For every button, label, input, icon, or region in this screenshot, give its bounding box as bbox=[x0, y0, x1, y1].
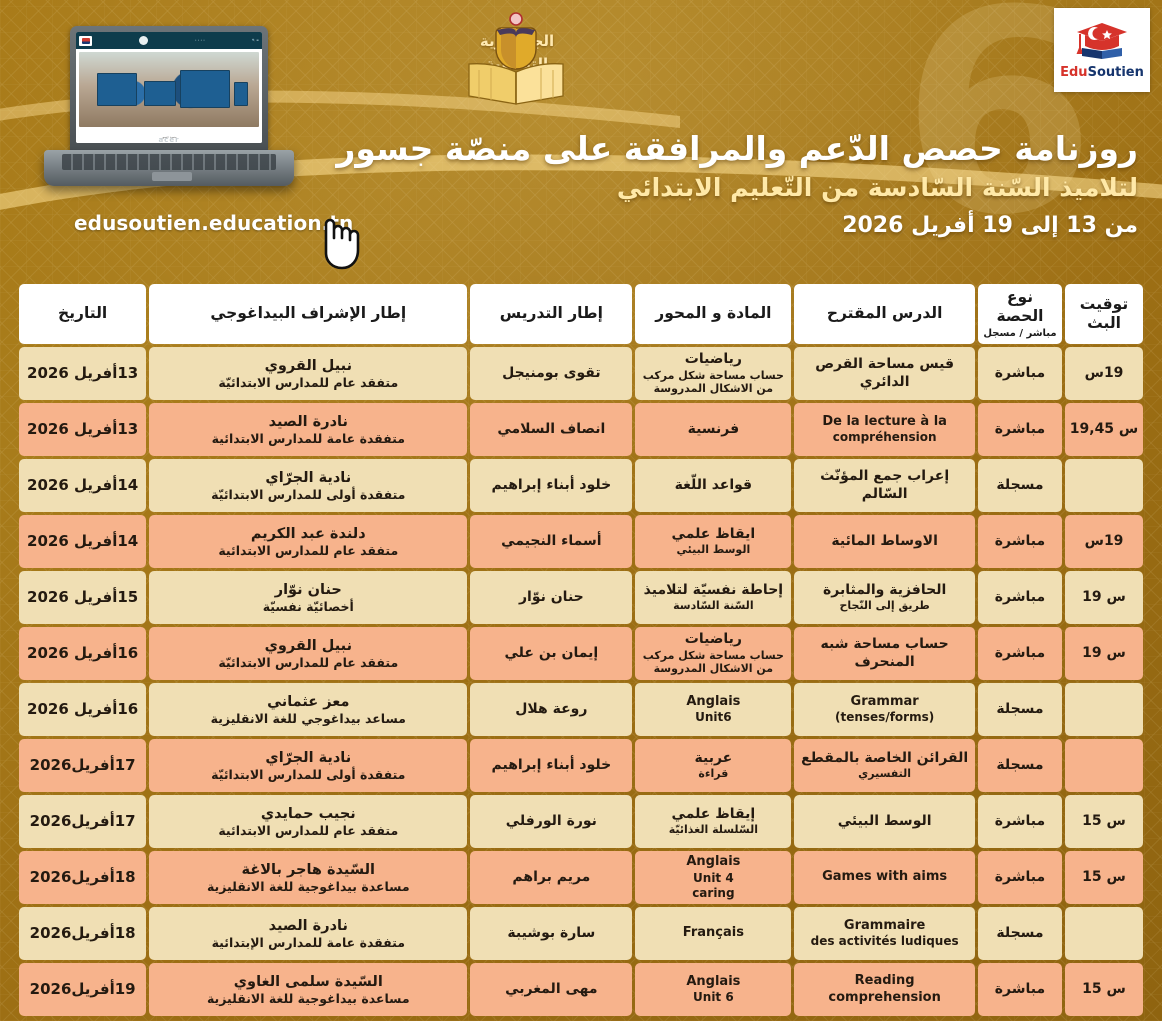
cell-teacher: انصاف السلامي bbox=[470, 403, 632, 456]
cell-teacher: نورة الورفلي bbox=[470, 795, 632, 848]
cell-line-0: Anglais bbox=[639, 854, 787, 870]
cell-line-0: السّيدة هاجر بالاغة bbox=[153, 861, 463, 879]
cell-session-type: مسجلة bbox=[978, 683, 1062, 736]
cell-session-type: مسجلة bbox=[978, 739, 1062, 792]
page-title: روزنامة حصص الدّعم والمرافقة على منصّة ج… bbox=[258, 128, 1138, 169]
table-row: مسجلةGrammairedes activités ludiquesFran… bbox=[19, 907, 1143, 960]
website-user-avatar bbox=[139, 36, 148, 45]
cell-proposed-lesson: الوسط البيئي bbox=[794, 795, 975, 848]
cell-line-0: نجيب حمايدي bbox=[153, 805, 463, 823]
cell-date: 14أفريل 2026 bbox=[19, 515, 146, 568]
cell-proposed-lesson: الحافزية والمثابرةطريق إلى النّجاح bbox=[794, 571, 975, 624]
cell-broadcast-time bbox=[1065, 459, 1143, 512]
cell-session-type: مباشرة bbox=[978, 403, 1062, 456]
cell-proposed-lesson: Grammairedes activités ludiques bbox=[794, 907, 975, 960]
cell-date: 13أفريل 2026 bbox=[19, 347, 146, 400]
cell-line-0: عربية bbox=[639, 750, 787, 768]
cell-line-1: Unit6 bbox=[639, 710, 787, 725]
title-block: روزنامة حصص الدّعم والمرافقة على منصّة ج… bbox=[258, 128, 1138, 244]
cell-teacher: مريم براهم bbox=[470, 851, 632, 904]
website-nav-text: • • • • bbox=[195, 39, 205, 42]
cell-line-1: أخصائيّة نفسيّة bbox=[153, 599, 463, 615]
table-row: مسجلةالقرائن الخاصة بالمقطعالتفسيريعربية… bbox=[19, 739, 1143, 792]
cell-line-1: متفقدة عامة للمدارس الابتدائية bbox=[153, 431, 463, 447]
hero-device-laptop bbox=[180, 70, 230, 108]
cell-session-type: مسجلة bbox=[978, 459, 1062, 512]
schedule-table-container: توقيت البثنوع الحصةمباشر / مسجلالدرس الم… bbox=[16, 281, 1146, 1019]
cell-broadcast-time: 19س bbox=[1065, 515, 1143, 568]
table-header-cell-4: إطار التدريس bbox=[470, 284, 632, 344]
cell-line-1: متفقدة عامة للمدارس الإبتدائية bbox=[153, 935, 463, 951]
cell-teacher: روعة هلال bbox=[470, 683, 632, 736]
cell-pedagogical-supervisor: نادرة الصيدمتفقدة عامة للمدارس الابتدائي… bbox=[149, 403, 467, 456]
cell-session-type: مباشرة bbox=[978, 627, 1062, 680]
website-logo-icon bbox=[79, 36, 92, 46]
table-header-label: توقيت البث bbox=[1080, 295, 1128, 332]
cell-line-0: نادرة الصيد bbox=[153, 413, 463, 431]
edusoutien-edu-text: Edu bbox=[1060, 65, 1087, 80]
table-header-cell-1: نوع الحصةمباشر / مسجل bbox=[978, 284, 1062, 344]
date-range-text: من 13 إلى 19 أفريل 2026 bbox=[258, 207, 1138, 244]
table-header-cell-5: إطار الإشراف البيداغوجي bbox=[149, 284, 467, 344]
cell-pedagogical-supervisor: معز عثمانيمساعد بيداغوجي للغة الانقليزية bbox=[149, 683, 467, 736]
table-row: س 19مباشرةحساب مساحة شبه المنحرفرياضياتح… bbox=[19, 627, 1143, 680]
table-header-label: التاريخ bbox=[58, 304, 107, 322]
cell-line-0: الوسط البيئي bbox=[798, 813, 971, 831]
cell-session-type: مباشرة bbox=[978, 963, 1062, 1016]
cell-date: 14أفريل 2026 bbox=[19, 459, 146, 512]
cell-teacher: مهى المغربي bbox=[470, 963, 632, 1016]
hero-device-phone bbox=[234, 82, 248, 106]
cell-session-type: مباشرة bbox=[978, 571, 1062, 624]
cell-line-0: حنان نوّار bbox=[153, 581, 463, 599]
cell-subject-topic: فرنسية bbox=[635, 403, 791, 456]
cell-session-type: مباشرة bbox=[978, 795, 1062, 848]
hero-device-small bbox=[144, 81, 176, 107]
cell-pedagogical-supervisor: نادية الجرّايمتفقدة أولى للمدارس الابتدا… bbox=[149, 459, 467, 512]
cell-subject-topic: AnglaisUnit6 bbox=[635, 683, 791, 736]
cell-subject-topic: رياضياتحساب مساحة شكل مركبمن الاشكال الم… bbox=[635, 347, 791, 400]
cell-line-0: Games with aims bbox=[798, 869, 971, 885]
laptop-screen-bezel: ☰ 🔍 • • • • منصة جسور bbox=[70, 26, 268, 152]
cell-date: 18أفريل2026 bbox=[19, 907, 146, 960]
cell-subject-topic: عربيةقراءة bbox=[635, 739, 791, 792]
cell-broadcast-time: 19س bbox=[1065, 347, 1143, 400]
cell-line-0: Anglais bbox=[639, 694, 787, 710]
cell-broadcast-time: س 19 bbox=[1065, 627, 1143, 680]
cell-line-0: الاوساط المائية bbox=[798, 533, 971, 551]
table-body: 19سمباشرةقيس مساحة القرص الدائريرياضياتح… bbox=[19, 347, 1143, 1016]
table-row: 19سمباشرةالاوساط المائيةايقاظ علميالوسط … bbox=[19, 515, 1143, 568]
table-header: توقيت البثنوع الحصةمباشر / مسجلالدرس الم… bbox=[19, 284, 1143, 344]
table-header-cell-3: المادة و المحور bbox=[635, 284, 791, 344]
cell-session-type: مباشرة bbox=[978, 347, 1062, 400]
cell-line-0: إيقاظ علمي bbox=[639, 806, 787, 824]
cell-line-1: Unit 6 bbox=[639, 990, 787, 1005]
cell-line-0: حساب مساحة شبه المنحرف bbox=[798, 636, 971, 671]
cell-pedagogical-supervisor: دلندة عبد الكريممتفقد عام للمدارس الابتد… bbox=[149, 515, 467, 568]
cell-line-1: حساب مساحة شكل مركب bbox=[639, 369, 787, 383]
hero-device-tablet bbox=[97, 73, 137, 106]
cell-proposed-lesson: Grammar(tenses/forms) bbox=[794, 683, 975, 736]
website-topbar: ☰ 🔍 • • • • bbox=[76, 32, 262, 49]
cell-pedagogical-supervisor: السّيدة هاجر بالاغةمساعدة بيداغوجية للغة… bbox=[149, 851, 467, 904]
cell-line-1: Unit 4 bbox=[639, 871, 787, 886]
cell-line-1: قراءة bbox=[639, 767, 787, 781]
cell-line-1: متفقدة أولى للمدارس الابتدائيّة bbox=[153, 487, 463, 503]
cell-subject-topic: Français bbox=[635, 907, 791, 960]
table-header-label: نوع الحصة bbox=[996, 288, 1043, 325]
infographic-page: 6 ☰ 🔍 • • • • منصة جسور bbox=[0, 0, 1162, 1021]
cell-date: 18أفريل2026 bbox=[19, 851, 146, 904]
cell-line-0: نادية الجرّاي bbox=[153, 749, 463, 767]
table-row: س 19مباشرةالحافزية والمثابرةطريق إلى الن… bbox=[19, 571, 1143, 624]
cell-date: 19أفريل2026 bbox=[19, 963, 146, 1016]
cell-broadcast-time bbox=[1065, 907, 1143, 960]
cell-date: 16أفريل 2026 bbox=[19, 627, 146, 680]
table-header-row: توقيت البثنوع الحصةمباشر / مسجلالدرس الم… bbox=[19, 284, 1143, 344]
table-header-label: إطار الإشراف البيداغوجي bbox=[210, 304, 406, 322]
cell-proposed-lesson: الاوساط المائية bbox=[794, 515, 975, 568]
cell-line-0: رياضيات bbox=[639, 631, 787, 649]
cell-broadcast-time: س 19 bbox=[1065, 571, 1143, 624]
cell-line-2: من الاشكال المدروسة bbox=[639, 662, 787, 676]
cell-teacher: تقوى بومنيجل bbox=[470, 347, 632, 400]
table-row: س 19,45مباشرةDe la lecture à lacompréhen… bbox=[19, 403, 1143, 456]
cell-line-0: القرائن الخاصة بالمقطع bbox=[798, 750, 971, 768]
cell-line-0: نبيل القروي bbox=[153, 637, 463, 655]
cell-proposed-lesson: حساب مساحة شبه المنحرف bbox=[794, 627, 975, 680]
cell-pedagogical-supervisor: حنان نوّارأخصائيّة نفسيّة bbox=[149, 571, 467, 624]
table-row: مسجلةGrammar(tenses/forms)AnglaisUnit6رو… bbox=[19, 683, 1143, 736]
cell-broadcast-time: س 15 bbox=[1065, 795, 1143, 848]
cell-broadcast-time bbox=[1065, 739, 1143, 792]
cell-line-1: متفقد عام للمدارس الابتدائيّة bbox=[153, 375, 463, 391]
edusoutien-logo: EduSoutien bbox=[1054, 8, 1150, 92]
laptop-trackpad bbox=[152, 172, 192, 181]
table-header-label: الدرس المقترح bbox=[827, 304, 943, 322]
cell-line-1: متفقد عام للمدارس الابتدائية bbox=[153, 543, 463, 559]
cell-proposed-lesson: القرائن الخاصة بالمقطعالتفسيري bbox=[794, 739, 975, 792]
cell-line-0: قيس مساحة القرص الدائري bbox=[798, 356, 971, 391]
edusoutien-soutien-text: Soutien bbox=[1088, 65, 1144, 80]
cell-line-1: مساعدة بيداغوجية للغة الانقليزية bbox=[153, 879, 463, 895]
cell-broadcast-time: س 19,45 bbox=[1065, 403, 1143, 456]
page-subtitle: لتلاميذ السّنة السّادسة من التّعليم الاب… bbox=[258, 169, 1138, 207]
table-row: س 15مباشرةReading comprehensionAnglaisUn… bbox=[19, 963, 1143, 1016]
website-menu-text: ☰ 🔍 bbox=[252, 39, 259, 42]
cell-teacher: خلود أبناء إبراهيم bbox=[470, 459, 632, 512]
cell-line-0: نبيل القروي bbox=[153, 357, 463, 375]
cell-line-1: مساعد بيداغوجي للغة الانقليزية bbox=[153, 711, 463, 727]
cell-subject-topic: AnglaisUnit 4caring bbox=[635, 851, 791, 904]
table-header-cell-2: الدرس المقترح bbox=[794, 284, 975, 344]
table-row: 19سمباشرةقيس مساحة القرص الدائريرياضياتح… bbox=[19, 347, 1143, 400]
cell-pedagogical-supervisor: السّيدة سلمى الغاويمساعدة بيداغوجية للغة… bbox=[149, 963, 467, 1016]
cell-line-1: التفسيري bbox=[798, 767, 971, 781]
cell-session-type: مباشرة bbox=[978, 851, 1062, 904]
cell-teacher: خلود أبناء إبراهيم bbox=[470, 739, 632, 792]
cell-pedagogical-supervisor: نادرة الصيدمتفقدة عامة للمدارس الإبتدائي… bbox=[149, 907, 467, 960]
cell-line-0: إحاطة نفسيّة لتلاميذ bbox=[639, 582, 787, 600]
cell-subject-topic: AnglaisUnit 6 bbox=[635, 963, 791, 1016]
cell-date: 17أفريل2026 bbox=[19, 795, 146, 848]
cell-teacher: أسماء النجيمي bbox=[470, 515, 632, 568]
cell-line-2: caring bbox=[639, 886, 787, 901]
cell-session-type: مسجلة bbox=[978, 907, 1062, 960]
cell-line-0: Anglais bbox=[639, 974, 787, 990]
cell-line-2: من الاشكال المدروسة bbox=[639, 382, 787, 396]
cell-line-1: طريق إلى النّجاح bbox=[798, 599, 971, 613]
cell-line-0: دلندة عبد الكريم bbox=[153, 525, 463, 543]
cell-line-0: نادية الجرّاي bbox=[153, 469, 463, 487]
table-header-sublabel: مباشر / مسجل bbox=[981, 328, 1059, 341]
table-row: س 15مباشرةالوسط البيئيإيقاظ علميالسّلسلة… bbox=[19, 795, 1143, 848]
cell-subject-topic: قواعد اللّغة bbox=[635, 459, 791, 512]
cell-line-0: رياضيات bbox=[639, 351, 787, 369]
cell-proposed-lesson: قيس مساحة القرص الدائري bbox=[794, 347, 975, 400]
cell-line-1: compréhension bbox=[798, 430, 971, 445]
cell-line-1: (tenses/forms) bbox=[798, 710, 971, 725]
cell-line-1: متفقد عام للمدارس الابتدائيّة bbox=[153, 655, 463, 671]
cell-line-0: فرنسية bbox=[639, 421, 787, 439]
cell-teacher: حنان نوّار bbox=[470, 571, 632, 624]
cell-teacher: إيمان بن علي bbox=[470, 627, 632, 680]
cell-line-1: حساب مساحة شكل مركب bbox=[639, 649, 787, 663]
cell-line-1: السّنة السّادسة bbox=[639, 599, 787, 613]
cell-line-1: مساعدة بيداغوجية للغة الانقليزية bbox=[153, 991, 463, 1007]
cell-date: 16أفريل 2026 bbox=[19, 683, 146, 736]
cell-pedagogical-supervisor: نبيل القرويمتفقد عام للمدارس الابتدائيّة bbox=[149, 347, 467, 400]
cell-line-0: De la lecture à la bbox=[798, 414, 971, 430]
cell-line-0: قواعد اللّغة bbox=[639, 477, 787, 495]
laptop-base bbox=[44, 150, 294, 186]
edusoutien-wordmark: EduSoutien bbox=[1060, 65, 1144, 80]
cell-pedagogical-supervisor: نجيب حمايديمتفقد عام للمدارس الابتدائية bbox=[149, 795, 467, 848]
cell-line-0: نادرة الصيد bbox=[153, 917, 463, 935]
table-header-cell-6: التاريخ bbox=[19, 284, 146, 344]
cell-line-0: ايقاظ علمي bbox=[639, 526, 787, 544]
cell-date: 13أفريل 2026 bbox=[19, 403, 146, 456]
graduation-cap-book-icon bbox=[1074, 20, 1130, 62]
cell-subject-topic: إيقاظ علميالسّلسلة الغذائيّة bbox=[635, 795, 791, 848]
cell-line-0: Grammar bbox=[798, 694, 971, 710]
cell-broadcast-time: س 15 bbox=[1065, 963, 1143, 1016]
cell-line-1: متفقد عام للمدارس الابتدائية bbox=[153, 823, 463, 839]
laptop-brand-label: acer bbox=[158, 136, 179, 144]
cell-line-0: Français bbox=[639, 925, 787, 941]
cell-session-type: مباشرة bbox=[978, 515, 1062, 568]
cell-line-0: معز عثماني bbox=[153, 693, 463, 711]
cell-subject-topic: ايقاظ علميالوسط البيئي bbox=[635, 515, 791, 568]
table-header-cell-0: توقيت البث bbox=[1065, 284, 1143, 344]
table-row: س 15مباشرةGames with aimsAnglaisUnit 4ca… bbox=[19, 851, 1143, 904]
table-header-label: إطار التدريس bbox=[500, 304, 603, 322]
schedule-table: توقيت البثنوع الحصةمباشر / مسجلالدرس الم… bbox=[16, 281, 1146, 1019]
laptop-keyboard bbox=[62, 154, 276, 170]
table-row: مسجلةإعراب جمع المؤنّث السّالمقواعد اللّ… bbox=[19, 459, 1143, 512]
cell-date: 17أفريل2026 bbox=[19, 739, 146, 792]
website-screenshot: ☰ 🔍 • • • • منصة جسور bbox=[76, 32, 262, 143]
cell-proposed-lesson: Games with aims bbox=[794, 851, 975, 904]
cell-line-0: إعراب جمع المؤنّث السّالم bbox=[798, 468, 971, 503]
cell-line-0: Reading comprehension bbox=[798, 973, 971, 1006]
cell-subject-topic: إحاطة نفسيّة لتلاميذالسّنة السّادسة bbox=[635, 571, 791, 624]
open-book-with-crest-icon bbox=[463, 12, 569, 106]
cell-teacher: سارة بوشيبة bbox=[470, 907, 632, 960]
cell-proposed-lesson: إعراب جمع المؤنّث السّالم bbox=[794, 459, 975, 512]
table-header-label: المادة و المحور bbox=[655, 304, 771, 322]
cell-broadcast-time bbox=[1065, 683, 1143, 736]
cell-pedagogical-supervisor: نبيل القرويمتفقد عام للمدارس الابتدائيّة bbox=[149, 627, 467, 680]
cell-line-0: Grammaire bbox=[798, 918, 971, 934]
cell-line-0: السّيدة سلمى الغاوي bbox=[153, 973, 463, 991]
cell-proposed-lesson: Reading comprehension bbox=[794, 963, 975, 1016]
cell-line-1: الوسط البيئي bbox=[639, 543, 787, 557]
website-hero-image bbox=[79, 52, 259, 127]
cell-pedagogical-supervisor: نادية الجرّايمتفقدة أولى للمدارس الابتدا… bbox=[149, 739, 467, 792]
cell-date: 15أفريل 2026 bbox=[19, 571, 146, 624]
cell-proposed-lesson: De la lecture à lacompréhension bbox=[794, 403, 975, 456]
ministry-emblem: الجمهورية التونسية وزارة التربية bbox=[455, 8, 705, 108]
cell-line-0: الحافزية والمثابرة bbox=[798, 582, 971, 600]
cell-broadcast-time: س 15 bbox=[1065, 851, 1143, 904]
cell-subject-topic: رياضياتحساب مساحة شكل مركبمن الاشكال الم… bbox=[635, 627, 791, 680]
cell-line-1: des activités ludiques bbox=[798, 934, 971, 949]
cell-line-1: السّلسلة الغذائيّة bbox=[639, 823, 787, 837]
cell-line-1: متفقدة أولى للمدارس الابتدائيّة bbox=[153, 767, 463, 783]
